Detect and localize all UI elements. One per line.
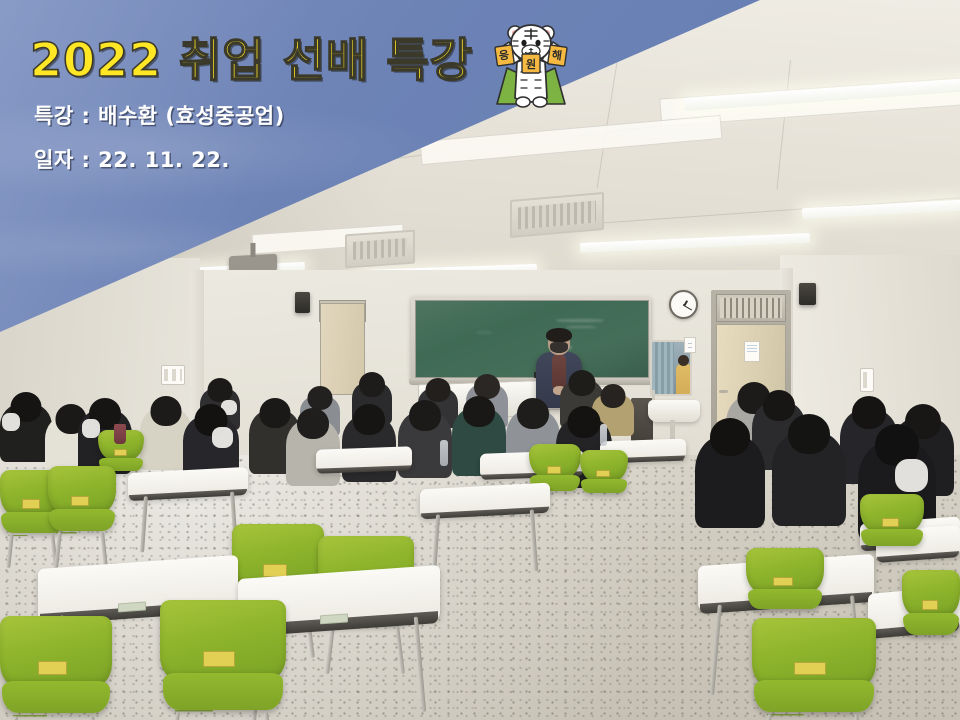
chalkboard — [415, 300, 649, 378]
wall-speaker — [295, 292, 310, 313]
chair-seat — [49, 509, 114, 531]
student — [695, 418, 765, 528]
chair-label — [547, 466, 561, 474]
clock-minute-hand — [683, 305, 691, 311]
chair-leg — [172, 712, 180, 720]
chair-seat — [861, 529, 922, 546]
chalkboard-frame — [411, 296, 651, 380]
door-notice — [744, 341, 760, 362]
mascot-card-3: 해 — [551, 47, 563, 62]
chair[interactable] — [580, 450, 628, 498]
white-tiger-mascot: 응 원 해 — [487, 16, 575, 112]
chair-label — [922, 600, 938, 610]
chair-seat — [163, 673, 284, 710]
screenshot-root: 2022 취업 선배 특강 특강 : 배수환 (효성중공업) 일자 : 22. … — [0, 0, 960, 720]
chair-label — [114, 449, 127, 456]
desk — [420, 483, 550, 518]
light-switch-panel[interactable] — [161, 365, 185, 385]
reflected-person — [676, 364, 692, 396]
wall-speaker — [799, 283, 816, 305]
chair-label — [71, 496, 89, 506]
chair-label — [773, 577, 794, 586]
clock-center — [683, 304, 685, 306]
chair-label — [203, 651, 235, 666]
sink — [648, 400, 700, 422]
wall-clock — [669, 290, 698, 319]
mascot-card-2: 원 — [526, 57, 536, 71]
chair[interactable] — [860, 494, 924, 552]
curtain — [652, 342, 674, 394]
presenter-hair — [546, 328, 572, 342]
chair-seat — [903, 613, 959, 635]
chair-label — [38, 661, 67, 675]
chair-leg — [10, 716, 18, 720]
chair-seat — [2, 681, 110, 713]
student — [286, 408, 340, 486]
chair[interactable] — [902, 570, 960, 642]
chair-leg — [90, 716, 98, 720]
water-bottle — [440, 440, 448, 466]
light-switch-panel[interactable] — [860, 368, 874, 392]
water-bottle — [600, 424, 607, 446]
chair[interactable] — [48, 466, 116, 538]
chair-label — [596, 470, 610, 477]
chair-label — [22, 499, 40, 509]
date-line: 일자 : 22. 11. 22. — [34, 144, 590, 174]
drink-cup — [114, 424, 126, 444]
projector-mount — [251, 243, 256, 257]
chair-leg — [264, 712, 272, 720]
chair-leg — [854, 714, 862, 720]
chair-seat — [581, 479, 627, 493]
chair[interactable] — [160, 600, 286, 720]
chair[interactable] — [0, 616, 112, 720]
chair-seat — [754, 680, 873, 711]
door-transom — [716, 294, 786, 322]
chair-leg — [764, 714, 772, 720]
wall-notice — [684, 337, 696, 353]
chair-label — [882, 518, 899, 526]
student — [772, 414, 846, 526]
presenter-face-mask — [550, 342, 568, 353]
chair[interactable] — [752, 618, 876, 720]
mascot-card-1: 응 — [498, 48, 510, 62]
chair-label — [794, 662, 826, 675]
desk — [128, 467, 248, 499]
desk — [316, 446, 412, 471]
chair-seat — [748, 589, 823, 609]
ac-vent — [345, 230, 415, 269]
chair[interactable] — [746, 548, 824, 616]
